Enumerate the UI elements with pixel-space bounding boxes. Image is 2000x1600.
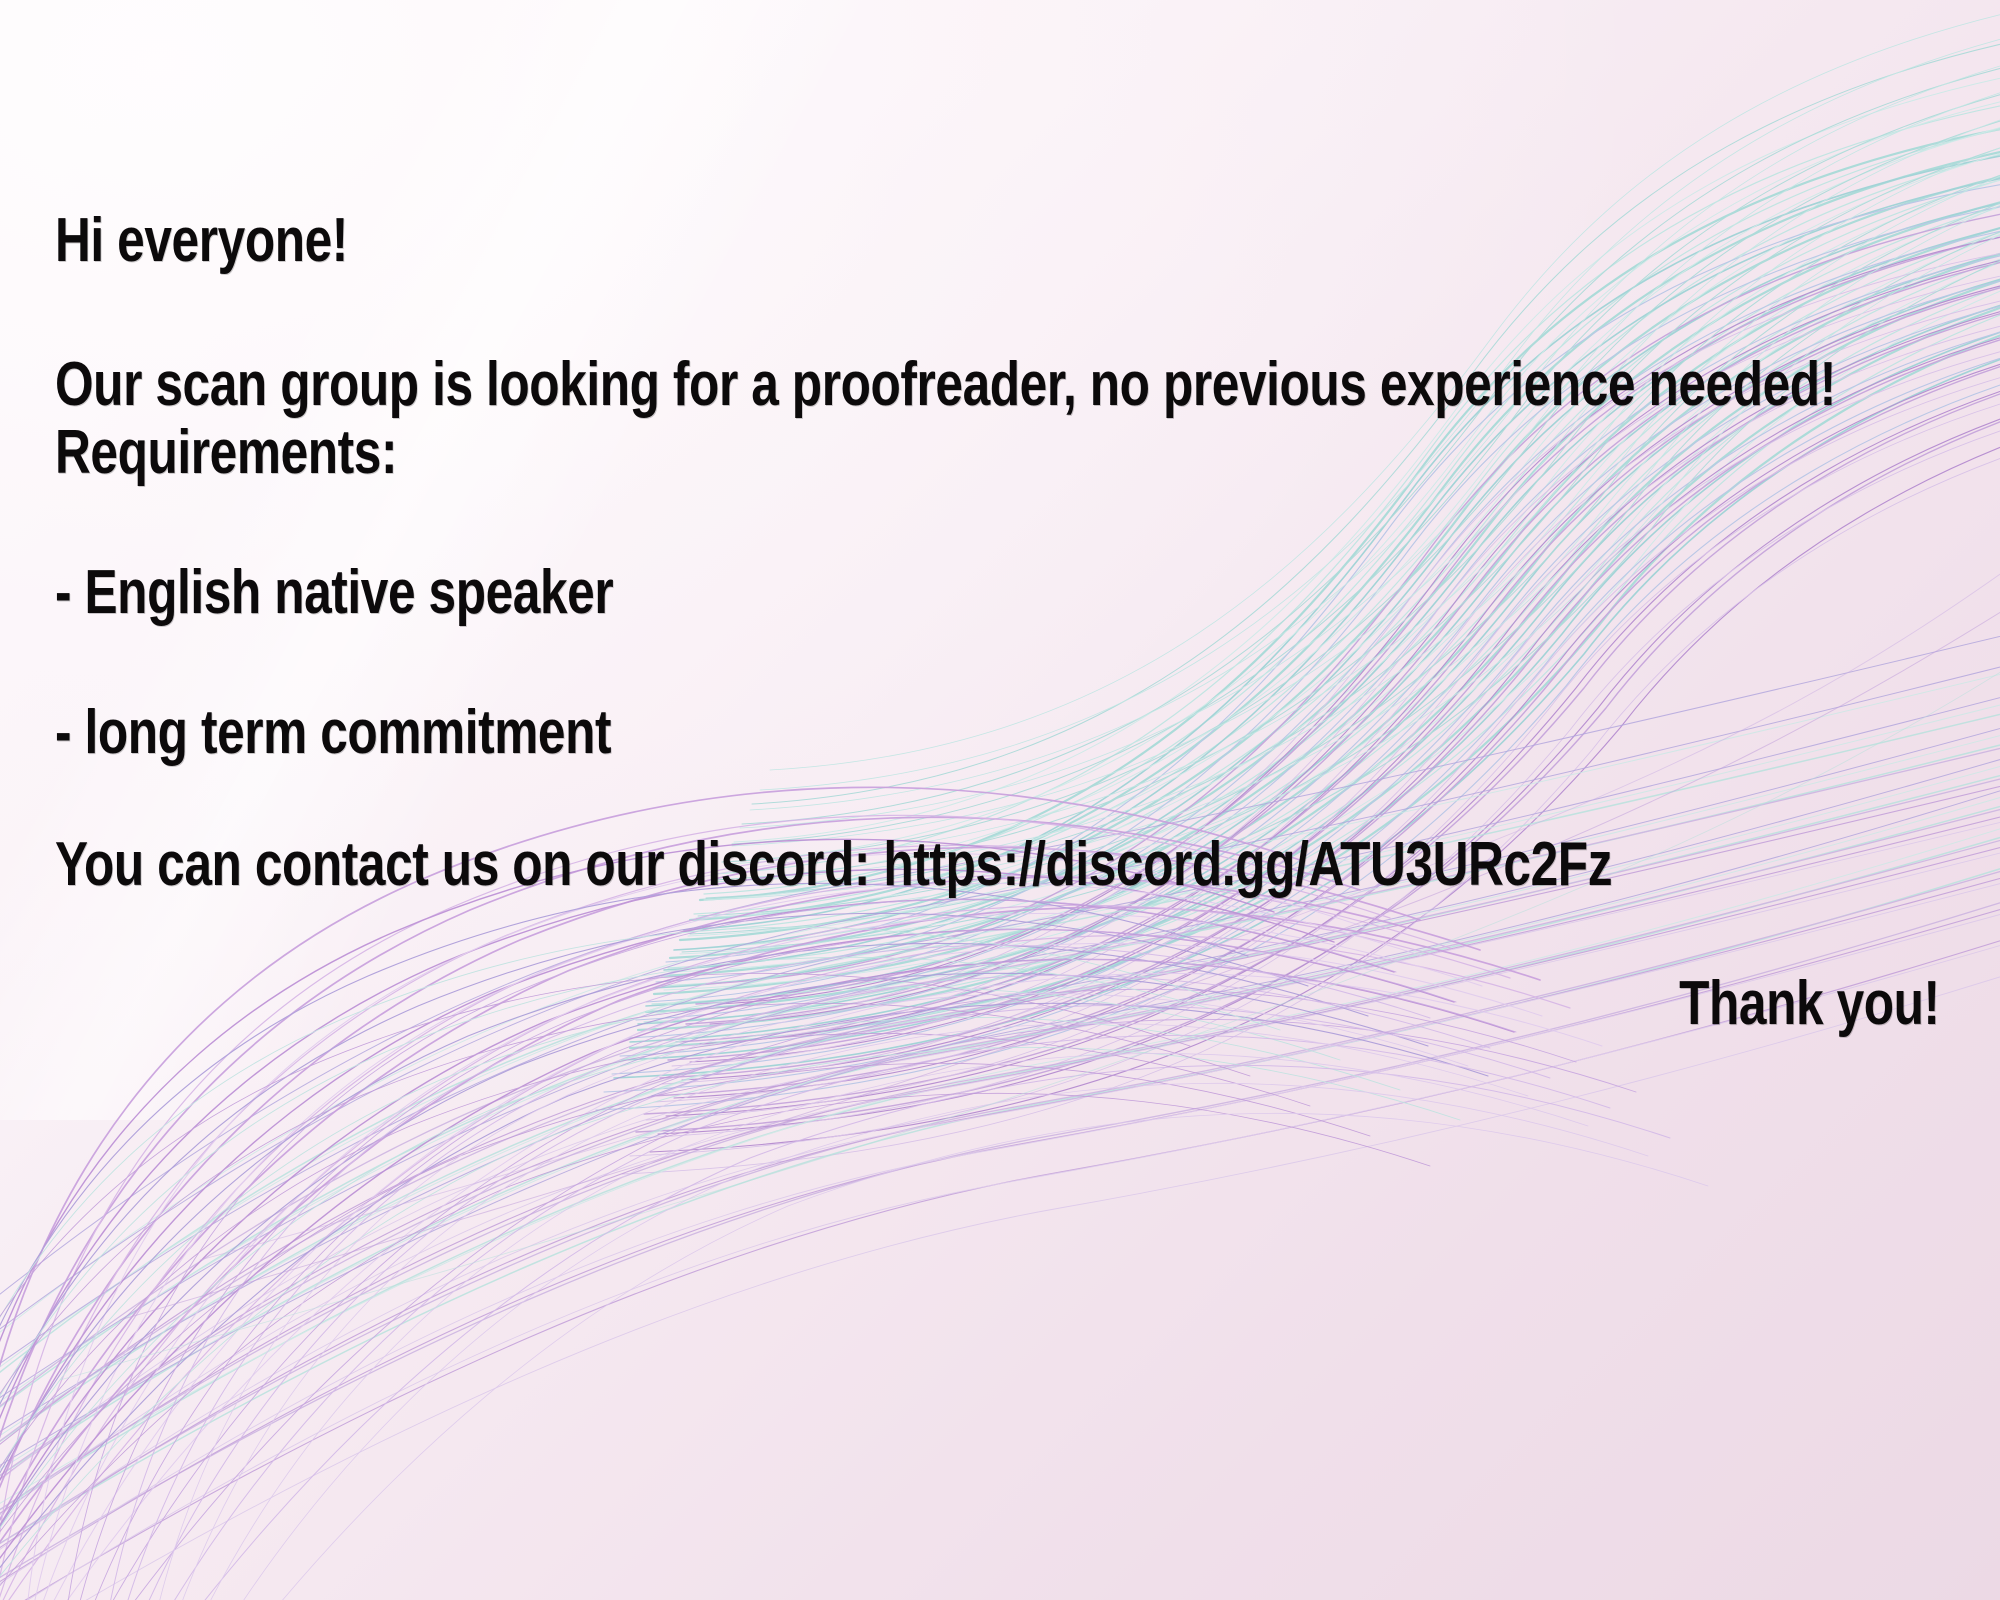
requirement-item-english: - English native speaker [55, 560, 613, 625]
greeting-line: Hi everyone! [55, 208, 348, 273]
contact-line-discord[interactable]: You can contact us on our discord: https… [55, 832, 1612, 897]
poster-text-content: Hi everyone! Our scan group is looking f… [0, 0, 2000, 1600]
poster-canvas: Hi everyone! Our scan group is looking f… [0, 0, 2000, 1600]
closing-thank-you: Thank you! [1679, 968, 1940, 1039]
requirement-item-commitment: - long term commitment [55, 700, 611, 765]
intro-line: Our scan group is looking for a proofrea… [55, 352, 1836, 417]
requirements-heading: Requirements: [55, 420, 397, 485]
